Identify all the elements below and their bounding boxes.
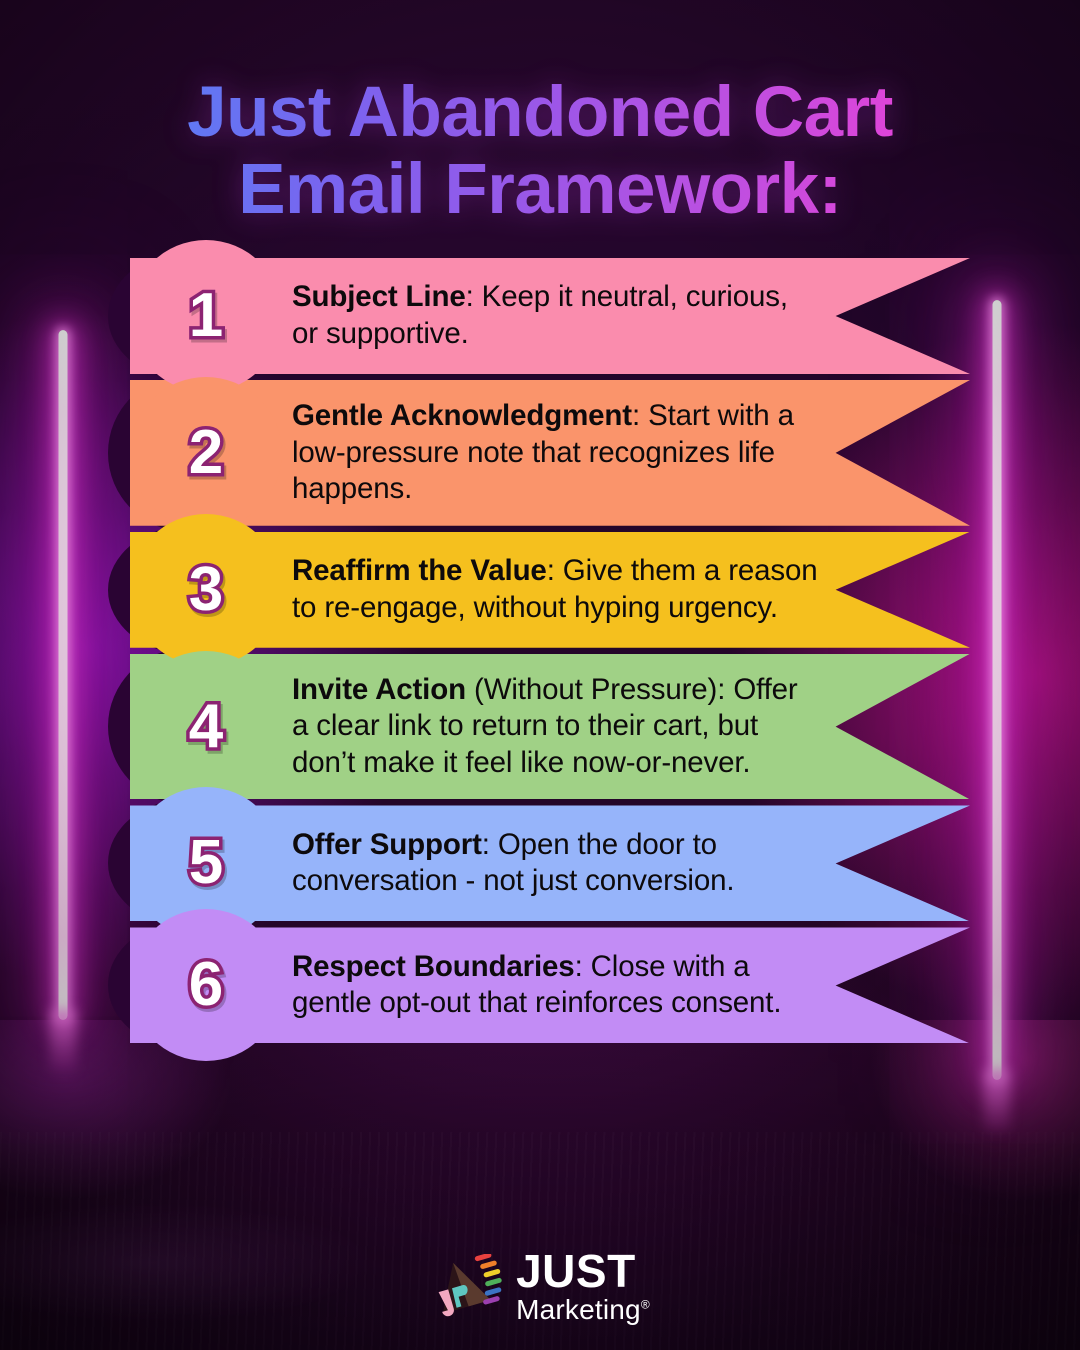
step-number: 6 <box>189 954 223 1016</box>
step-number: 1 <box>189 285 223 347</box>
step-banner-wrap: Respect Boundaries: Close with a gentle … <box>130 927 970 1043</box>
step-text: Respect Boundaries: Close with a gentle … <box>292 949 820 1022</box>
page-title-line-2: Email Framework: <box>0 151 1080 228</box>
step-heading: Respect Boundaries <box>292 950 575 983</box>
list-item: Respect Boundaries: Close with a gentle … <box>0 927 1080 1043</box>
step-heading: Gentle Acknowledgment <box>292 399 632 432</box>
step-text: Gentle Acknowledgment: Start with a low-… <box>292 398 820 508</box>
step-banner-wrap: Gentle Acknowledgment: Start with a low-… <box>130 380 970 526</box>
logo-words: JUST Marketing® <box>516 1248 650 1324</box>
logo-tagline-text: Marketing <box>516 1294 641 1325</box>
step-banner-wrap: Reaffirm the Value: Give them a reason t… <box>130 532 970 648</box>
logo-tagline: Marketing® <box>516 1296 650 1324</box>
logo-wordmark: JUST <box>516 1248 650 1294</box>
step-number: 5 <box>189 832 223 894</box>
prism-rainbow-icon <box>430 1254 504 1318</box>
step-text: Invite Action (Without Pressure): Offer … <box>292 672 820 782</box>
step-heading: Invite Action <box>292 673 466 706</box>
step-number-circle: 4 <box>130 651 282 803</box>
page-title-line-1: Just Abandoned Cart <box>187 73 893 152</box>
step-banner-wrap: Offer Support: Open the door to conversa… <box>130 805 970 921</box>
step-heading: Reaffirm the Value <box>292 554 547 587</box>
step-number-circle: 2 <box>130 377 282 529</box>
step-number: 3 <box>189 559 223 621</box>
step-banner-wrap: Invite Action (Without Pressure): Offer … <box>130 654 970 800</box>
steps-list: Subject Line: Keep it neutral, curious, … <box>0 258 1080 1049</box>
step-heading: Offer Support <box>292 828 482 861</box>
registered-mark-icon: ® <box>641 1298 650 1312</box>
list-item: Reaffirm the Value: Give them a reason t… <box>0 532 1080 648</box>
list-item: Gentle Acknowledgment: Start with a low-… <box>0 380 1080 526</box>
step-text: Subject Line: Keep it neutral, curious, … <box>292 279 820 352</box>
infographic-canvas: Just Abandoned Cart Email Framework: Sub… <box>0 0 1080 1350</box>
step-number: 4 <box>189 696 223 758</box>
list-item: Offer Support: Open the door to conversa… <box>0 805 1080 921</box>
step-banner-wrap: Subject Line: Keep it neutral, curious, … <box>130 258 970 374</box>
step-number-circle: 6 <box>130 909 282 1061</box>
step-number-circle: 3 <box>130 514 282 666</box>
page-title: Just Abandoned Cart Email Framework: <box>0 74 1080 229</box>
step-text: Reaffirm the Value: Give them a reason t… <box>292 553 820 626</box>
brand-logo: JUST Marketing® <box>0 1248 1080 1324</box>
step-number: 2 <box>189 422 223 484</box>
step-heading: Subject Line <box>292 280 466 313</box>
list-item: Invite Action (Without Pressure): Offer … <box>0 654 1080 800</box>
step-number-circle: 1 <box>130 240 282 392</box>
list-item: Subject Line: Keep it neutral, curious, … <box>0 258 1080 374</box>
step-text: Offer Support: Open the door to conversa… <box>292 827 820 900</box>
